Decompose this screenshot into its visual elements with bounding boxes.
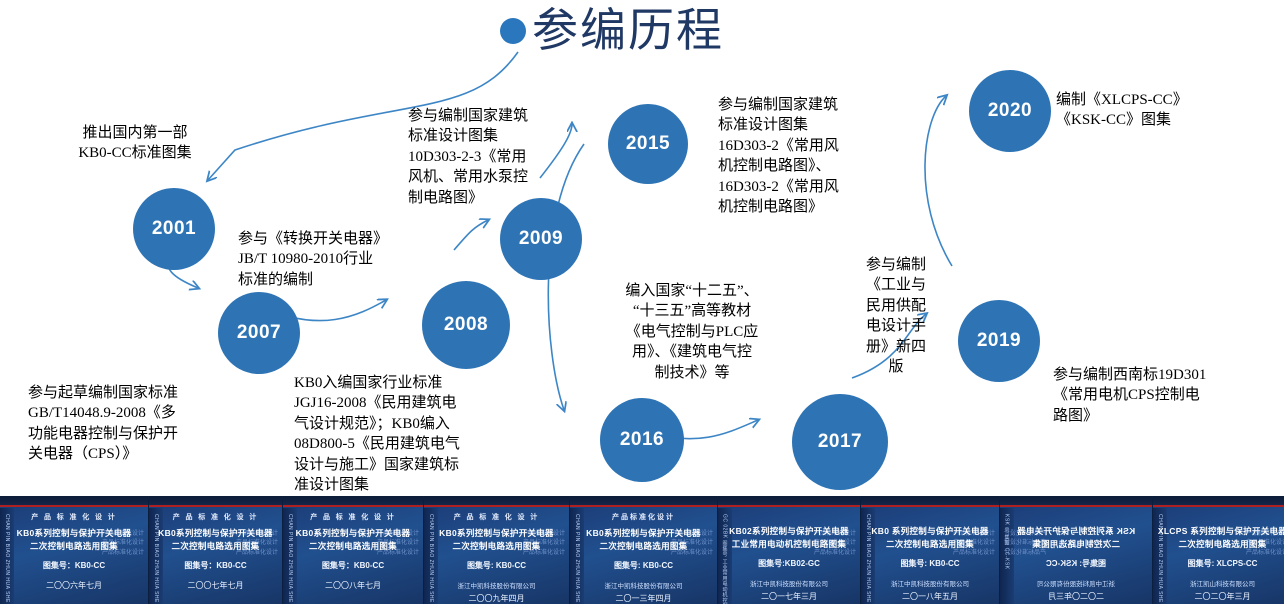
book-catalog-number: 图集号: KSK-CC [1046,558,1106,569]
book-cover-body: 产品标准化设计KB0系列控制与保护开关电器二次控制电路选用图集图集号: KB0-… [570,508,717,604]
timeline-node-2019[interactable]: 2019 [958,300,1040,382]
book-publisher: 浙江中凯科技股份有限公司 [458,580,536,590]
book-date: 二〇〇九年四月 [469,593,525,604]
book-red-rule [0,505,148,507]
book-title-line2: 二次控制电路选用图集 [452,540,540,552]
book-top-band [861,496,999,505]
timeline-node-label: 2001 [152,218,196,240]
caption-2020: 编制《XLCPS-CC》 《KSK-CC》图集 [1056,90,1256,131]
book-subtitle: 产 品 标 准 化 设 计 [310,512,396,522]
book-red-rule [424,505,569,507]
book-catalog-number: 图集号: KB0-CC [900,558,959,569]
caption-2015: 参与编制国家建筑 标准设计图集 16D303-2《常用风 机控制电路图》、 16… [718,95,886,217]
timeline-node-2015[interactable]: 2015 [608,104,688,184]
book-publisher: 浙江中凯科技股份有限公司 [891,578,969,588]
book-cover-body: 产 品 标 准 化 设 计KB0系列控制与保护开关电器二次控制电路选用图集图集号… [424,508,569,604]
book-red-rule [1000,505,1152,507]
caption-2017: 参与编制 《工业与 民用供配 电设计手 册》新四 版 [851,255,941,377]
title-dot-icon [500,18,526,44]
book-subtitle: 产 品 标 准 化 设 计 [454,512,540,522]
book-catalog-number: 图集号: KB0-CC [614,560,673,571]
book-red-rule [283,505,423,507]
timeline-node-label: 2016 [620,429,664,451]
book-date: 二〇一八年五月 [902,591,958,602]
book-red-rule [149,505,282,507]
book-catalog-number: 图集号: XLCPS-CC [1188,558,1258,569]
book-title-line2: 二次控制电路选用图集 [30,540,118,552]
book-date: 二〇二〇年三月 [1195,591,1251,602]
book-title-line1: KB0 系列控制与保护开关电器 [871,525,988,537]
book-catalog-number: 图集号：KB0-CC [184,560,246,571]
book-cover: KSK 号 集图 CC-KSK产品标准化设计 产品标准化设计 产品标准化设计KS… [1000,496,1153,604]
book-red-rule [1153,505,1284,507]
book-catalog-number: 图集号: KB0-CC [467,560,526,571]
book-date: 二〇二〇年三月 [1048,591,1104,602]
book-title-line1: KSK 系列控制与保护开关电器 [1017,525,1135,537]
book-title-line2: 工业常用电动机控制电路图集 [732,538,846,550]
book-title-line1: KB0系列控制与保护开关电器 [17,527,132,539]
book-cover-body: KSK 系列控制与保护开关电器二次控制电路选用图集图集号: KSK-CC浙江中凯… [1000,508,1152,604]
book-title-line2: 二次控制电路选用图集 [599,540,687,552]
book-cover: GC 02BK 图集号 工业常用电动机控制电路图集产品标准化设计 产品标准化设计… [718,496,861,604]
book-cover-body: KB02系列控制与保护开关电器工业常用电动机控制电路图集图集号:KB02-GC浙… [718,508,860,604]
book-cover: CHAN PIN BIAO ZHUN HUA SHE JI产品标准化设计 产品标… [570,496,718,604]
caption-2007-left: 参与起草编制国家标准 GB/T14048.9-2008《多 功能电器控制与保护开… [28,383,243,465]
caption-2019: 参与编制西南标19D301 《常用电机CPS控制电 路图》 [1053,365,1278,426]
timeline-node-2008[interactable]: 2008 [422,281,510,369]
timeline-node-2001[interactable]: 2001 [133,188,215,270]
book-title-line1: KB0系列控制与保护开关电器 [439,527,554,539]
caption-2007-right: 参与《转换开关电器》 JB/T 10980-2010行业 标准的编制 [238,229,438,290]
book-cover-body: 产 品 标 准 化 设 计KB0系列控制与保护开关电器二次控制电路选用图集图集号… [0,508,148,604]
book-cover-body: 产 品 标 准 化 设 计KB0系列控制与保护开关电器二次控制电路选用图集图集号… [149,508,282,604]
book-top-band [570,496,717,505]
book-red-rule [861,505,999,507]
book-cover-body: 产 品 标 准 化 设 计KB0系列控制与保护开关电器二次控制电路选用图集图集号… [283,508,423,604]
book-publisher: 浙江中凯科技股份有限公司 [605,580,683,590]
timeline-node-2007[interactable]: 2007 [218,292,300,374]
connector-2019-2020 [925,96,952,266]
timeline-node-label: 2015 [626,133,670,155]
book-publisher: 浙江中凯科技股份有限公司 [750,578,828,588]
timeline-node-label: 2019 [977,330,1021,352]
book-title-line1: XLCPS 系列控制与保护开关电器 [1158,525,1284,537]
slide-canvas: 参编历程 2001 2007 2008 2009 2015 2016 2017 … [0,0,1284,604]
caption-2008: KB0入编国家行业标准 JGJ16-2008《民用建筑电 气设计规范》；KB0编… [294,373,509,495]
book-title-line1: KB0系列控制与保护开关电器 [296,527,411,539]
caption-2009: 参与编制国家建筑 标准设计图集 10D303-2-3《常用 风机、常用水泵控 制… [408,106,580,208]
timeline-node-2016[interactable]: 2016 [600,398,684,482]
caption-2016: 编入国家“十二五”、 “十三五”高等教材 《电气控制与PLC应 用》、《建筑电气… [594,281,790,383]
book-title-line2: 二次控制电路选用图集 [1032,538,1120,550]
book-top-band [1000,496,1152,505]
book-catalog-number: 图集号：KB0-CC [43,560,105,571]
book-publisher: 浙江中凯科技股份有限公司 [1037,578,1115,588]
book-title-line2: 二次控制电路选用图集 [309,540,397,552]
book-subtitle: 产 品 标 准 化 设 计 [31,512,117,522]
timeline-node-2009[interactable]: 2009 [500,198,582,280]
book-cover: CHAN PIN BIAO ZHUN HUA SHE JI产品标准化设计 产品标… [283,496,424,604]
timeline-node-label: 2008 [444,314,488,336]
book-cover-strip: CHAN PIN BIAO ZHUN HUA SHE JI产品标准化设计 产品标… [0,496,1284,604]
connector-2008-2009 [454,220,488,250]
book-catalog-number: 图集号：KB0-CC [322,560,384,571]
timeline-node-2020[interactable]: 2020 [969,70,1051,152]
book-cover: CHAN PIN BIAO ZHUN HUA SHE JI产品标准化设计 产品标… [1153,496,1284,604]
book-top-band [424,496,569,505]
book-red-rule [570,505,717,507]
book-subtitle: 产 品 标 准 化 设 计 [173,512,259,522]
book-top-band [283,496,423,505]
book-top-band [1153,496,1284,505]
book-title-line2: 二次控制电路选用图集 [886,538,974,550]
book-title-line2: 二次控制电路选用图集 [171,540,259,552]
book-cover: CHAN PIN BIAO ZHUN HUA SHE JI产品标准化设计 产品标… [424,496,570,604]
book-catalog-number: 图集号:KB02-GC [758,558,820,569]
book-cover: CHAN PIN BIAO ZHUN HUA SHE JI产品标准化设计 产品标… [149,496,283,604]
timeline-node-label: 2007 [237,322,281,344]
timeline-node-label: 2009 [519,228,563,250]
book-cover: CHAN PIN BIAO ZHUN HUA SHE JI产品标准化设计 产品标… [861,496,1000,604]
book-title-line1: KB0系列控制与保护开关电器 [158,527,273,539]
book-subtitle: 产品标准化设计 [612,512,675,522]
book-title-line1: KB02系列控制与保护开关电器 [729,525,849,537]
book-title-line2: 二次控制电路选用图集 [1178,538,1266,550]
book-publisher: 浙江凯山科技有限公司 [1190,578,1255,588]
book-date: 二〇一三年四月 [616,593,672,604]
timeline-node-2017[interactable]: 2017 [792,394,888,490]
page-title: 参编历程 [500,8,724,54]
book-date: 二〇一七年三月 [761,591,817,602]
book-top-band [718,496,860,505]
book-cover-body: XLCPS 系列控制与保护开关电器二次控制电路选用图集图集号: XLCPS-CC… [1153,508,1284,604]
book-date: 二〇〇六年七月 [46,580,102,591]
book-cover: CHAN PIN BIAO ZHUN HUA SHE JI产品标准化设计 产品标… [0,496,149,604]
book-cover-body: KB0 系列控制与保护开关电器二次控制电路选用图集图集号: KB0-CC浙江中凯… [861,508,999,604]
timeline-node-label: 2017 [818,431,862,453]
caption-2001: 推出国内第一部 KB0-CC标准图集 [40,123,230,164]
book-date: 二〇〇七年七月 [188,580,244,591]
book-date: 二〇〇八年七月 [325,580,381,591]
title-label: 参编历程 [532,8,724,54]
timeline-node-label: 2020 [988,100,1032,122]
book-title-line1: KB0系列控制与保护开关电器 [586,527,701,539]
book-red-rule [718,505,860,507]
book-top-band [149,496,282,505]
book-top-band [0,496,148,505]
